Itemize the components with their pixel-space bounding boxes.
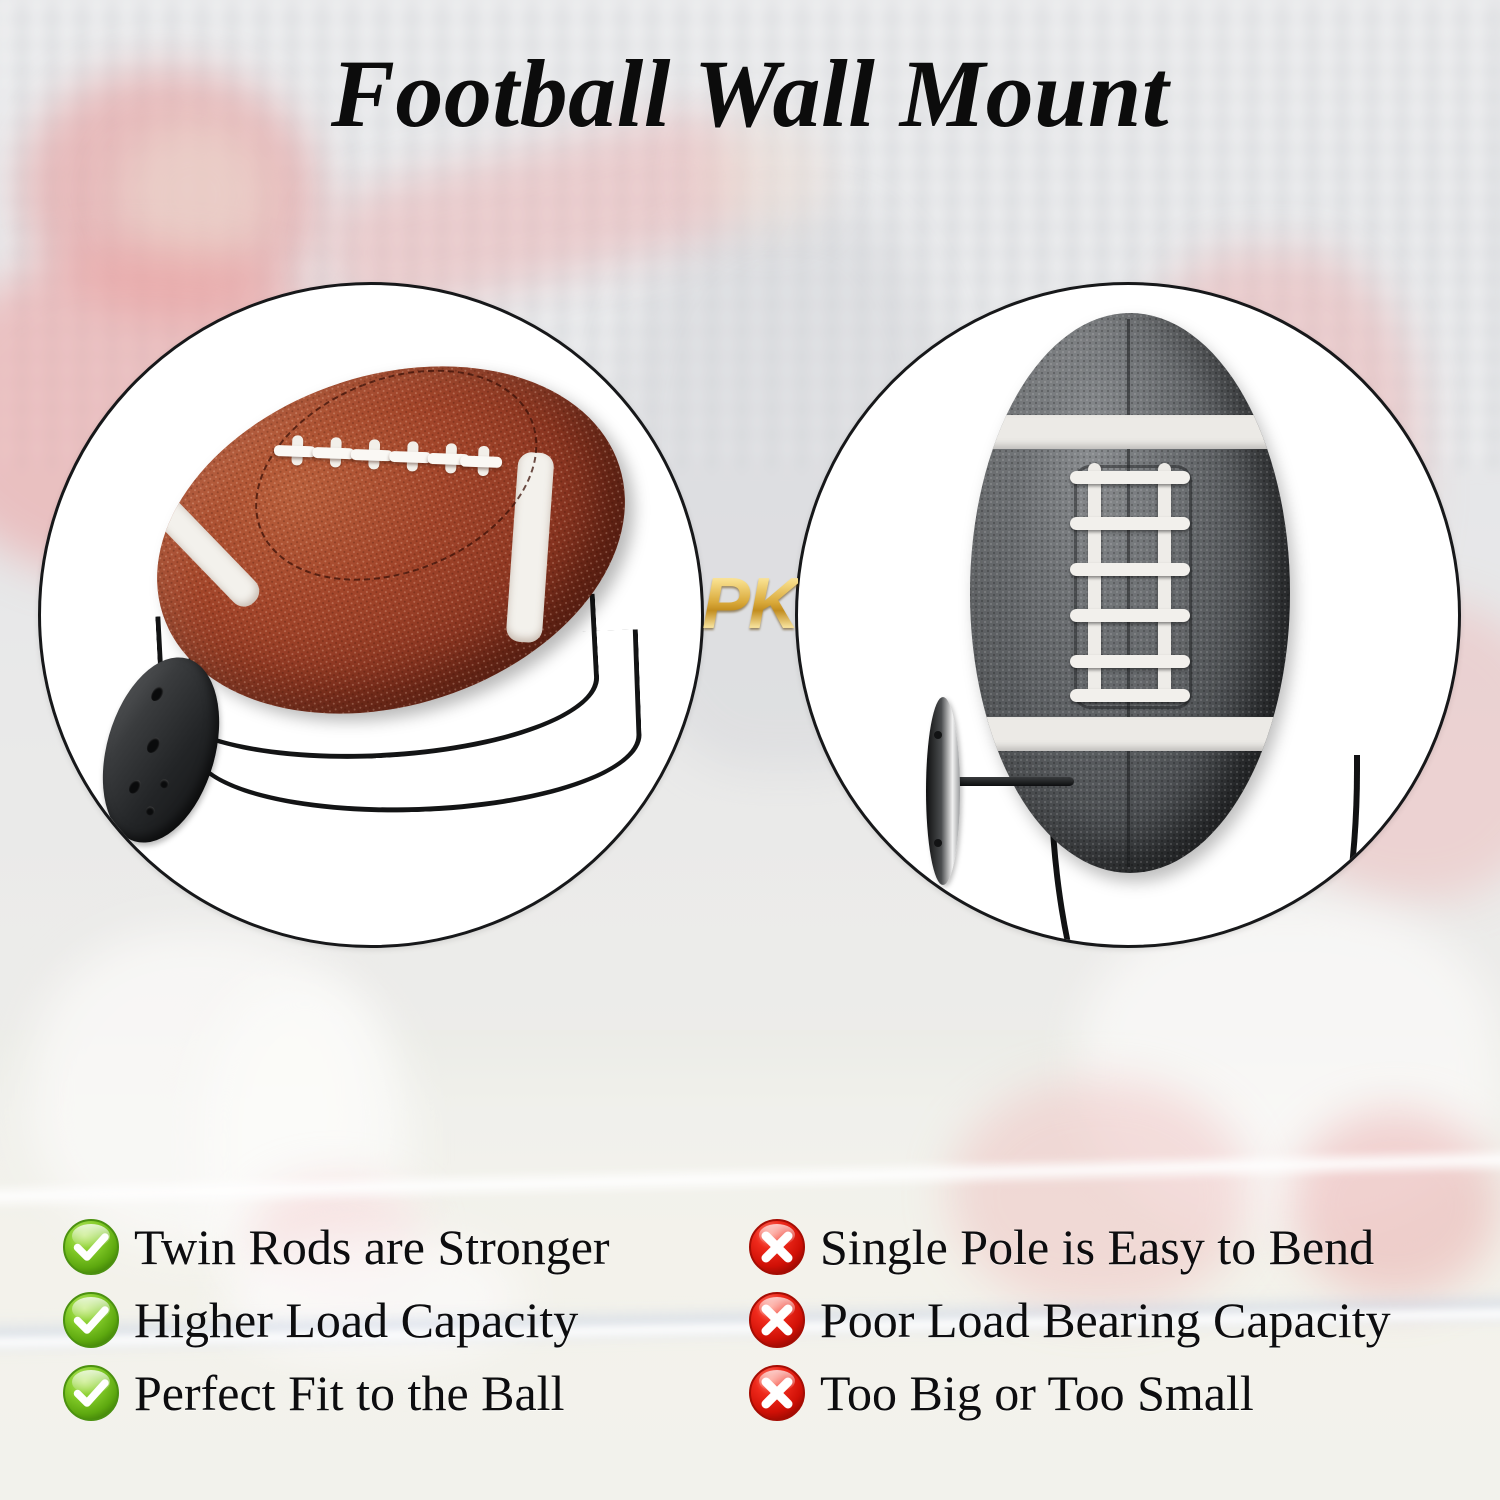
green-check-icon xyxy=(62,1218,120,1276)
gray-football-stripe-bottom xyxy=(970,717,1290,751)
green-check-icon xyxy=(62,1364,120,1422)
gray-football-lace-rung xyxy=(1070,471,1190,484)
pros-column: Twin Rods are Stronger Higher Load Capac… xyxy=(62,1196,762,1429)
product-circle-good xyxy=(38,282,704,948)
gray-football-lace-rung xyxy=(1070,517,1190,530)
gray-football-lace-rung xyxy=(1070,563,1190,576)
cons-column: Single Pole is Easy to Bend Poor Load Be… xyxy=(748,1196,1488,1429)
list-item-label: Poor Load Bearing Capacity xyxy=(820,1295,1391,1345)
list-item: Twin Rods are Stronger xyxy=(62,1210,762,1283)
wall-plate-hole xyxy=(159,778,170,789)
gray-football-body xyxy=(970,313,1290,873)
feature-comparison-lists: Twin Rods are Stronger Higher Load Capac… xyxy=(0,1196,1500,1476)
list-item-label: Single Pole is Easy to Bend xyxy=(820,1222,1374,1272)
twin-rod-mount-illustration xyxy=(41,285,701,945)
list-item: Too Big or Too Small xyxy=(748,1356,1488,1429)
list-item: Single Pole is Easy to Bend xyxy=(748,1210,1488,1283)
pk-versus-label: PK xyxy=(702,563,798,645)
pk-versus-badge: PK xyxy=(676,556,824,652)
list-item: Perfect Fit to the Ball xyxy=(62,1356,762,1429)
list-item-label: Perfect Fit to the Ball xyxy=(134,1368,564,1418)
wall-plate-hole xyxy=(144,735,163,755)
red-x-icon xyxy=(748,1218,806,1276)
list-item-label: Too Big or Too Small xyxy=(820,1368,1254,1418)
gray-football xyxy=(970,313,1290,873)
page-title: Football Wall Mount xyxy=(0,46,1500,142)
mount-single-pole xyxy=(950,777,1074,786)
gray-football-lace-rung xyxy=(1070,689,1190,702)
wall-plate-hole xyxy=(145,805,156,816)
red-x-icon xyxy=(748,1364,806,1422)
gray-football-lace-rung xyxy=(1070,655,1190,668)
list-item-label: Twin Rods are Stronger xyxy=(134,1222,610,1272)
wall-plate-hole xyxy=(934,731,942,739)
wall-plate-hole xyxy=(934,839,942,847)
single-pole-mount-illustration xyxy=(798,285,1458,945)
mount-wall-plate-round xyxy=(926,697,960,885)
green-check-icon xyxy=(62,1291,120,1349)
wall-plate-hole xyxy=(127,778,144,796)
wall-plate-hole xyxy=(149,684,166,703)
list-item: Higher Load Capacity xyxy=(62,1283,762,1356)
product-comparison-image: Football Wall Mount xyxy=(0,0,1500,1500)
red-x-icon xyxy=(748,1291,806,1349)
list-item: Poor Load Bearing Capacity xyxy=(748,1283,1488,1356)
gray-football-lace-rung xyxy=(1070,609,1190,622)
product-circle-bad xyxy=(795,282,1461,948)
gray-football-stripe-top xyxy=(970,415,1290,449)
list-item-label: Higher Load Capacity xyxy=(134,1295,578,1345)
